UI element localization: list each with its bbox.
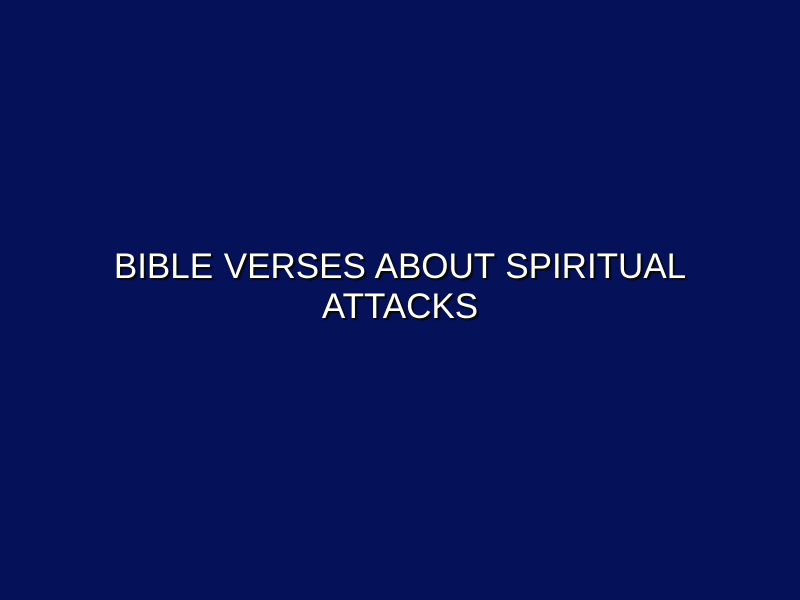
page-title: BIBLE VERSES ABOUT SPIRITUAL ATTACKS [100,247,700,327]
title-block: BIBLE VERSES ABOUT SPIRITUAL ATTACKS [100,247,700,327]
title-slide: BIBLE VERSES ABOUT SPIRITUAL ATTACKS [0,0,800,600]
